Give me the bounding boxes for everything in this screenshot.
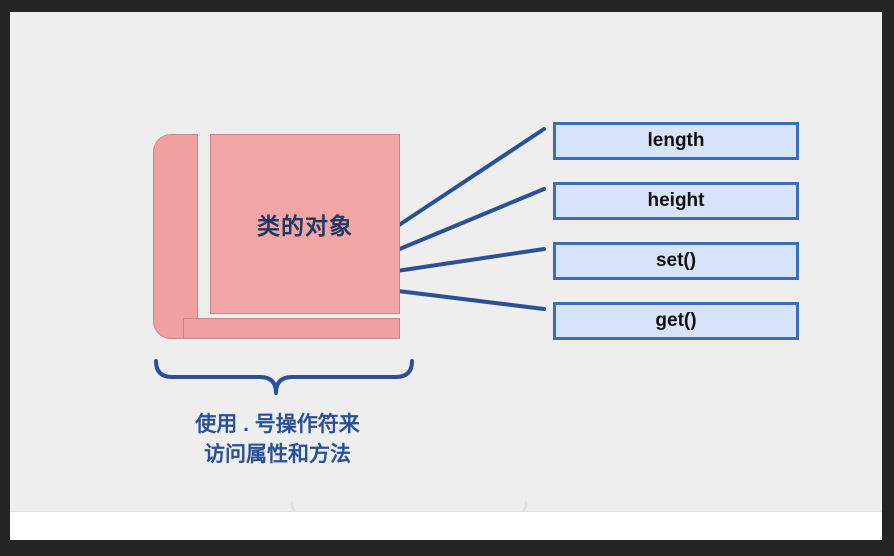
- caption-line-1: 使用 . 号操作符来: [145, 410, 410, 440]
- member-box-height[interactable]: height: [553, 182, 799, 220]
- member-label-get: get(): [655, 310, 696, 332]
- class-object-book: 类的对象: [153, 134, 400, 341]
- book-spine: [153, 134, 198, 339]
- page-bottom-strip: [10, 511, 882, 540]
- connector-line-get: [390, 290, 544, 309]
- member-box-get[interactable]: get(): [553, 302, 799, 340]
- caption-text: 使用 . 号操作符来 访问属性和方法: [145, 410, 410, 470]
- member-label-set: set(): [656, 250, 696, 272]
- class-object-label: 类的对象: [210, 134, 400, 314]
- member-label-height: height: [648, 190, 705, 212]
- member-box-set[interactable]: set(): [553, 242, 799, 280]
- member-box-length[interactable]: length: [553, 122, 799, 160]
- connector-line-length: [390, 129, 544, 231]
- member-label-length: length: [648, 130, 705, 152]
- caption-line-2: 访问属性和方法: [145, 440, 410, 470]
- connector-line-set: [390, 249, 544, 272]
- screenshot-frame: 类的对象 length height set() get() 使用 . 号操作符…: [0, 0, 894, 556]
- diagram-canvas: 类的对象 length height set() get() 使用 . 号操作符…: [10, 12, 882, 540]
- book-bottom-cover: [183, 318, 400, 339]
- connector-line-height: [390, 189, 544, 253]
